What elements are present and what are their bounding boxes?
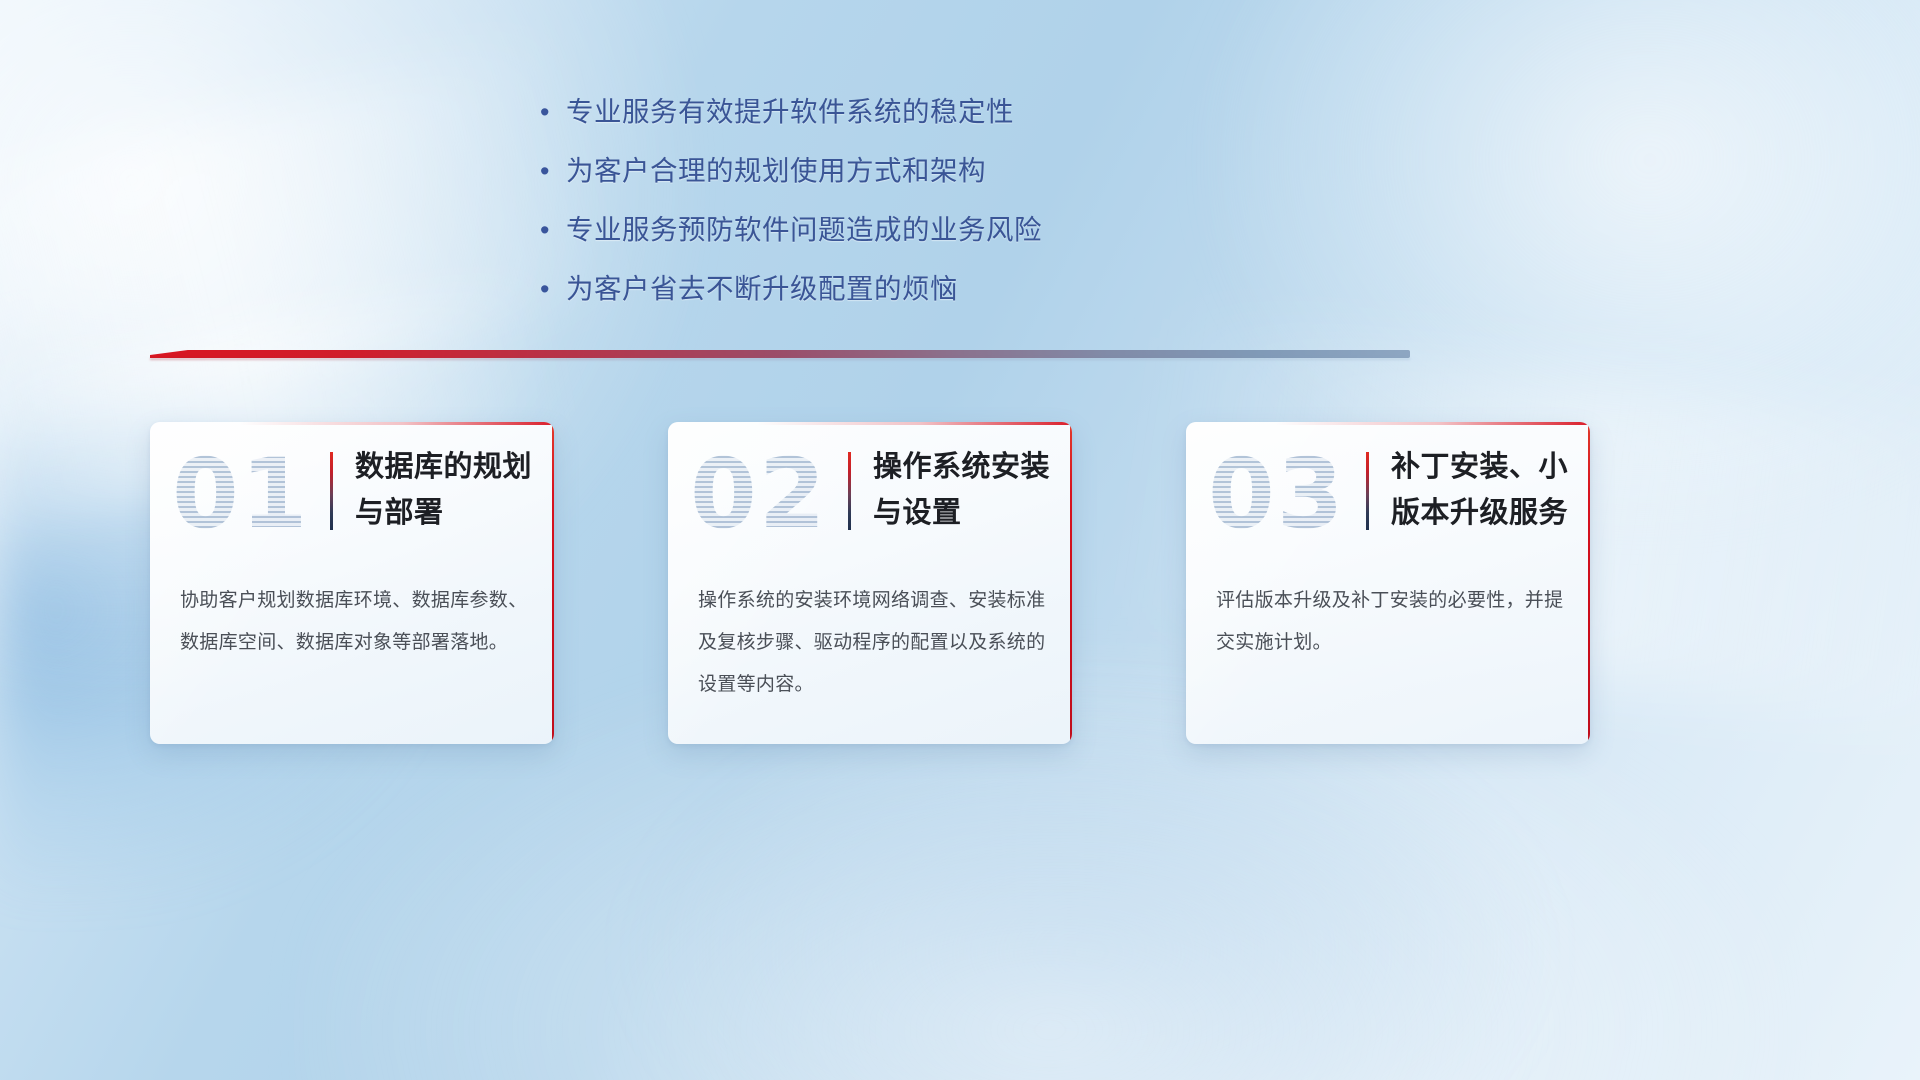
card-title: 操作系统安装与设置: [873, 444, 1053, 536]
list-item: • 专业服务预防软件问题造成的业务风险: [540, 210, 1160, 250]
bullet-dot-icon: •: [540, 92, 566, 132]
bullet-dot-icon: •: [540, 151, 566, 191]
card-title: 数据库的规划与部署: [355, 444, 535, 536]
card-description: 协助客户规划数据库环境、数据库参数、数据库空间、数据库对象等部署落地。: [180, 580, 530, 664]
card-title: 补丁安装、小版本升级服务: [1391, 444, 1571, 536]
list-item: • 专业服务有效提升软件系统的稳定性: [540, 92, 1160, 132]
benefits-list: • 专业服务有效提升软件系统的稳定性 • 为客户合理的规划使用方式和架构 • 专…: [540, 92, 1160, 328]
list-item-label: 专业服务有效提升软件系统的稳定性: [566, 92, 1014, 132]
service-card-03[interactable]: 03 03 补丁安装、小版本升级服务 评估版本升级及补丁安装的必要性，并提交实施…: [1186, 422, 1590, 744]
bullet-dot-icon: •: [540, 210, 566, 250]
list-item: • 为客户省去不断升级配置的烦恼: [540, 269, 1160, 309]
bullet-dot-icon: •: [540, 269, 566, 309]
card-title-divider: [1366, 452, 1369, 530]
list-item-label: 专业服务预防软件问题造成的业务风险: [566, 210, 1042, 250]
card-description: 操作系统的安装环境网络调查、安装标准及复核步骤、驱动程序的配置以及系统的设置等内…: [698, 580, 1048, 706]
service-card-02[interactable]: 02 02 操作系统安装与设置 操作系统的安装环境网络调查、安装标准及复核步骤、…: [668, 422, 1072, 744]
list-item-label: 为客户合理的规划使用方式和架构: [566, 151, 986, 191]
card-number-watermark: 02: [690, 436, 828, 552]
card-header: 03 03 补丁安装、小版本升级服务: [1186, 422, 1590, 560]
card-header: 01 01 数据库的规划与部署: [150, 422, 554, 560]
slide-canvas: • 专业服务有效提升软件系统的稳定性 • 为客户合理的规划使用方式和架构 • 专…: [0, 0, 1920, 1080]
card-title-divider: [330, 452, 333, 530]
divider-shadow-bar: [150, 358, 1410, 360]
card-number-watermark: 03: [1208, 436, 1346, 552]
section-divider: [150, 350, 1410, 362]
card-header: 02 02 操作系统安装与设置: [668, 422, 1072, 560]
list-item: • 为客户合理的规划使用方式和架构: [540, 151, 1160, 191]
service-card-group: 01 01 数据库的规划与部署 协助客户规划数据库环境、数据库参数、数据库空间、…: [150, 422, 1590, 747]
card-title-divider: [848, 452, 851, 530]
divider-gradient-bar: [150, 350, 1410, 358]
card-number-watermark: 01: [172, 436, 310, 552]
card-description: 评估版本升级及补丁安装的必要性，并提交实施计划。: [1216, 580, 1566, 664]
list-item-label: 为客户省去不断升级配置的烦恼: [566, 269, 958, 309]
service-card-01[interactable]: 01 01 数据库的规划与部署 协助客户规划数据库环境、数据库参数、数据库空间、…: [150, 422, 554, 744]
